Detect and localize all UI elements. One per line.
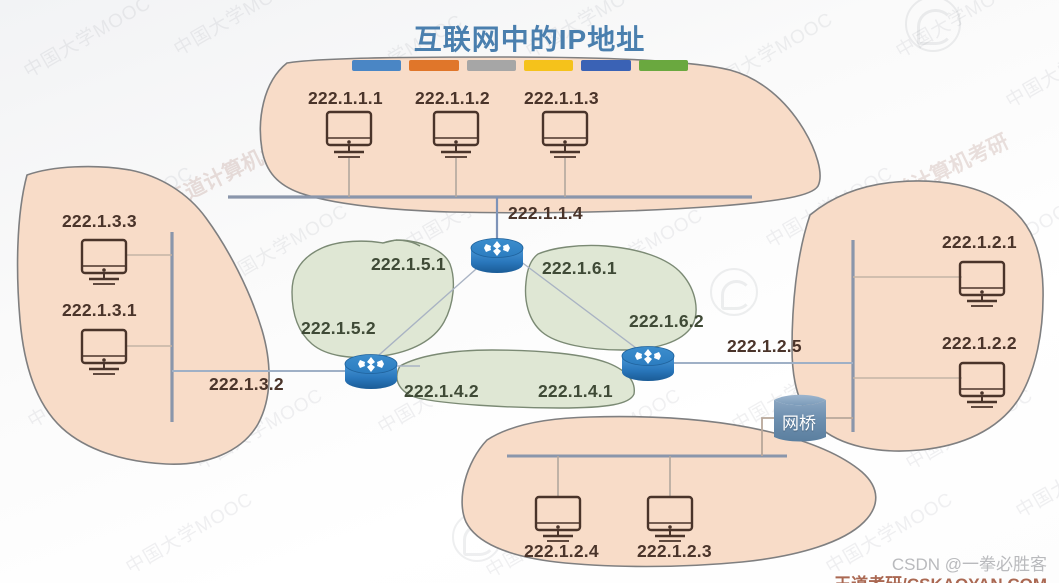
label-222-1-1-3: 222.1.1.3 — [524, 88, 599, 109]
accent-bar-segment — [524, 60, 573, 71]
label-222-1-2-4: 222.1.2.4 — [524, 541, 599, 562]
wangdao-footer: 王道考研/CSKAOYAN.COM — [834, 570, 1047, 583]
label-222-1-1-2: 222.1.1.2 — [415, 88, 490, 109]
page-title: 互联网中的IP地址 — [0, 18, 1059, 58]
accent-bar-segment — [581, 60, 630, 71]
network-cloud-222-1-3 — [18, 167, 270, 465]
label-222-1-4-1: 222.1.4.1 — [538, 381, 613, 402]
label-222-1-5-2: 222.1.5.2 — [301, 318, 376, 339]
label-222-1-2-3: 222.1.2.3 — [637, 541, 712, 562]
accent-bar-segment — [467, 60, 516, 71]
label-222-1-3-2: 222.1.3.2 — [209, 374, 284, 395]
router-left-icon — [345, 355, 397, 390]
network-cloud-222-1-1 — [260, 57, 820, 213]
label-222-1-1-4: 222.1.1.4 — [508, 203, 583, 224]
label-222-1-6-1: 222.1.6.1 — [542, 258, 617, 279]
label-222-1-2-5: 222.1.2.5 — [727, 336, 802, 357]
label-222-1-2-2: 222.1.2.2 — [942, 333, 1017, 354]
slide-canvas: 中国大学MOOC 中国大学MOOC 中国大学MOOC 中国大学MOOC 中国大学… — [0, 0, 1059, 583]
router-right-icon — [622, 347, 674, 382]
label-222-1-6-2: 222.1.6.2 — [629, 311, 704, 332]
router-top-icon — [471, 239, 523, 274]
bridge-label: 网桥 — [782, 409, 816, 434]
label-222-1-3-3: 222.1.3.3 — [62, 211, 137, 232]
label-222-1-4-2: 222.1.4.2 — [404, 381, 479, 402]
label-222-1-2-1: 222.1.2.1 — [942, 232, 1017, 253]
network-cloud-222-1-2-right — [792, 181, 1043, 451]
accent-bar-segment — [409, 60, 458, 71]
accent-bar-segment — [352, 60, 401, 71]
label-222-1-3-1: 222.1.3.1 — [62, 300, 137, 321]
label-222-1-1-1: 222.1.1.1 — [308, 88, 383, 109]
label-222-1-5-1: 222.1.5.1 — [371, 254, 446, 275]
accent-bar — [352, 60, 688, 71]
accent-bar-segment — [639, 60, 688, 71]
